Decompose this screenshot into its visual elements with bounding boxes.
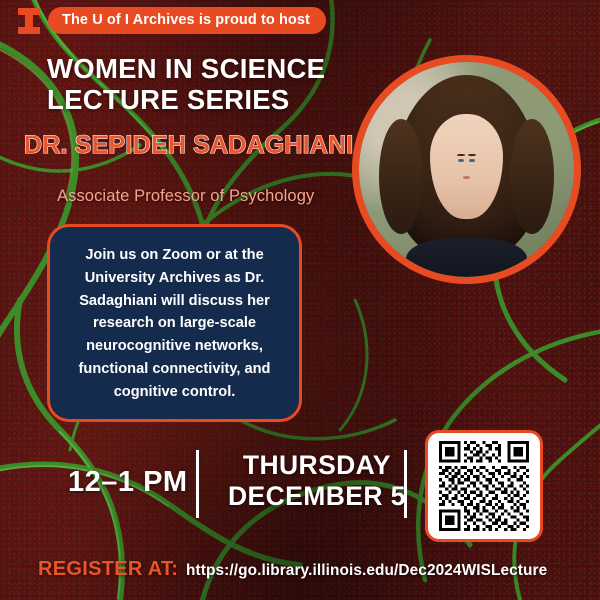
description-box: Join us on Zoom or at the University Arc… <box>47 224 302 422</box>
event-time: 12–1 PM <box>68 466 188 499</box>
qr-code[interactable] <box>425 430 543 542</box>
speaker-portrait <box>352 55 581 284</box>
registration-url[interactable]: https://go.library.illinois.edu/Dec2024W… <box>186 562 547 580</box>
portrait-photo <box>359 62 574 277</box>
host-banner-row: The U of I Archives is proud to host <box>18 7 326 34</box>
series-title-line1: WOMEN IN SCIENCE <box>47 54 325 85</box>
series-title: WOMEN IN SCIENCE LECTURE SERIES <box>47 54 325 116</box>
event-date-weekday: THURSDAY <box>228 450 406 481</box>
event-date-day: DECEMBER 5 <box>228 481 406 512</box>
event-date: THURSDAY DECEMBER 5 <box>228 450 406 513</box>
speaker-role: Associate Professor of Psychology <box>57 187 314 206</box>
poster: The U of I Archives is proud to host WOM… <box>0 0 600 600</box>
portrait-shoulders <box>406 238 526 277</box>
register-label: REGISTER AT: <box>38 558 178 581</box>
series-title-line2: LECTURE SERIES <box>47 85 325 116</box>
divider-right <box>404 450 407 518</box>
illinois-block-i-icon <box>18 8 40 34</box>
speaker-name: DR. SEPIDEH SADAGHIANI <box>24 131 353 160</box>
qr-code-image <box>436 441 532 531</box>
time-date-row: 12–1 PM THURSDAY DECEMBER 5 <box>0 440 420 535</box>
divider-left <box>196 450 199 518</box>
host-banner-label: The U of I Archives is proud to host <box>48 7 326 34</box>
